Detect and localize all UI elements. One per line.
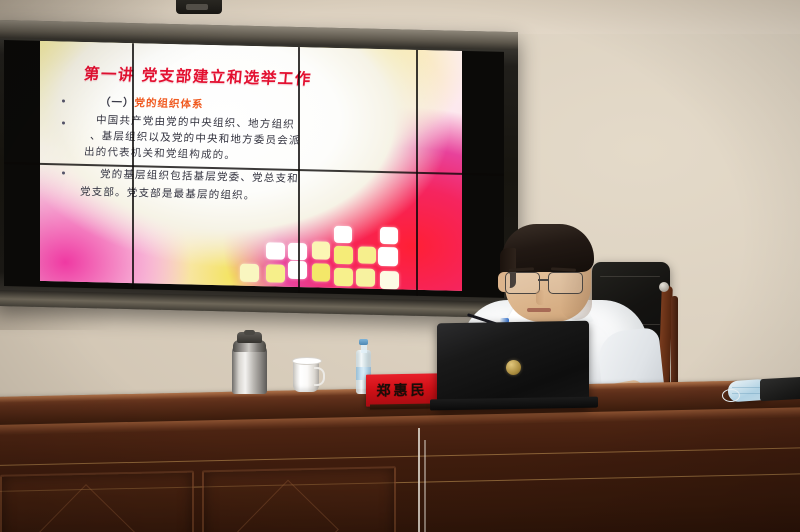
slide-accent-square — [358, 246, 376, 263]
slide-accent-square — [334, 226, 352, 243]
nose — [536, 290, 545, 305]
cup-rim — [292, 357, 322, 365]
tea-cup — [293, 358, 319, 392]
thermos-body — [232, 346, 267, 394]
bottle-cap — [359, 339, 368, 345]
laptop-brand-logo-icon — [506, 360, 521, 375]
slide-accent-square — [334, 246, 353, 264]
nameplate-text: 郑惠民 — [377, 380, 428, 401]
chair-adjust-knob — [659, 282, 669, 292]
power-cable — [424, 440, 426, 532]
slide-accent-square — [312, 241, 330, 259]
slide-accent-square — [240, 264, 259, 282]
table-front-panel — [0, 417, 800, 532]
slide-accent-square — [378, 247, 398, 266]
chair-stitch-line — [600, 276, 660, 277]
eyeglasses-bridge — [538, 279, 549, 281]
eyeglasses-lens — [548, 272, 583, 294]
video-wall-display: 第一讲 党支部建立和选举工作 （一）党的组织体系 中国共产党由党的中央组织、地方… — [4, 40, 504, 298]
slide-accent-square — [334, 268, 353, 286]
thermos-carafe — [232, 330, 267, 394]
bottle-neck — [361, 344, 367, 353]
laptop-lid — [437, 321, 589, 410]
slide-accent-square — [356, 268, 375, 286]
video-wall-frame: 第一讲 党支部建立和选举工作 （一）党的组织体系 中国共产党由党的中央组织、地方… — [0, 20, 518, 318]
eyeglasses-lens — [505, 272, 540, 294]
chair-armrest-frame — [671, 296, 678, 388]
slide-accent-square — [266, 242, 285, 259]
face-mask-ear-loop — [722, 389, 740, 402]
desk-nameplate: 郑惠民 — [366, 373, 438, 406]
power-cable — [418, 428, 420, 532]
bullet-point-icon — [62, 171, 65, 174]
slide-subheading-text: 党的组织体系 — [134, 97, 204, 111]
bullet-point-icon — [62, 121, 65, 124]
slide-accent-square — [266, 264, 285, 282]
ceiling-mount-bracket — [176, 0, 222, 14]
table-gold-inlay — [0, 447, 800, 466]
thermos-pour-button — [244, 330, 255, 335]
slide-accent-square — [380, 271, 399, 289]
slide-accent-square — [312, 263, 330, 281]
slide-title: 第一讲 党支部建立和选举工作 — [83, 62, 313, 89]
mouth — [527, 308, 551, 312]
slide-body-line: 出的代表机关和党组构成的。 — [84, 144, 237, 163]
slide-body-line: 党支部。党支部是最基层的组织。 — [80, 184, 256, 203]
slide-subheading: （一）党的组织体系 — [99, 94, 204, 111]
slide-subheading-number: （一） — [100, 96, 135, 109]
bullet-point-icon — [62, 99, 65, 102]
photo-scene: 第一讲 党支部建立和选举工作 （一）党的组织体系 中国共产党由党的中央组织、地方… — [0, 0, 800, 532]
slide-accent-square — [380, 227, 398, 244]
phone-case — [760, 377, 800, 401]
